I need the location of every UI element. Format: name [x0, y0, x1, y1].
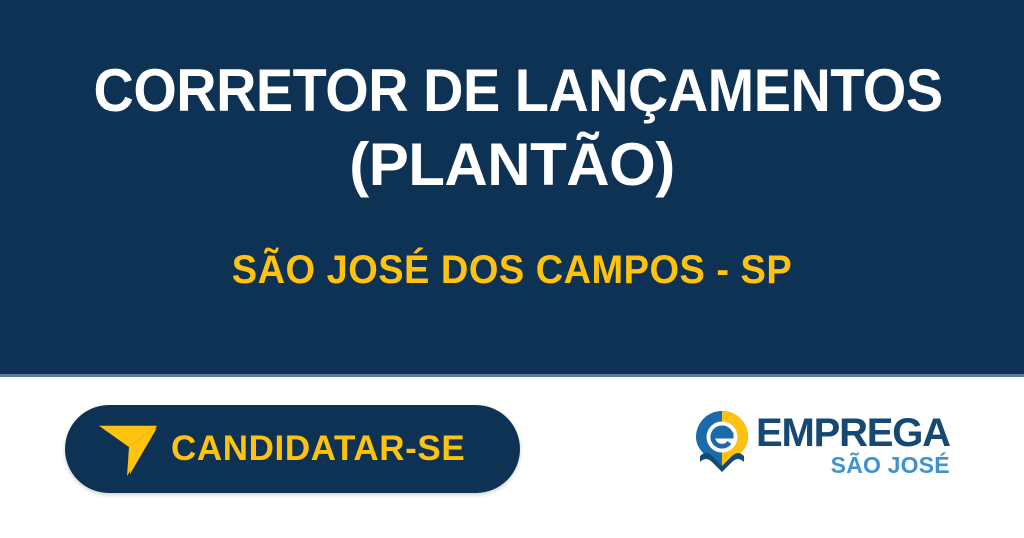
brand-name: EMPREGA [756, 414, 950, 452]
send-icon [97, 418, 159, 480]
job-title-line-2: (PLANTÃO) [62, 129, 962, 201]
brand-logo[interactable]: EMPREGA SÃO JOSÉ [694, 408, 936, 486]
action-bar: CANDIDATAR-SE EMPREGA SÃO JOSÉ [0, 377, 1024, 538]
apply-button[interactable]: CANDIDATAR-SE [65, 405, 520, 493]
brand-wordmark: EMPREGA SÃO JOSÉ [756, 408, 950, 478]
job-posting-card: CORRETOR DE LANÇAMENTOS (PLANTÃO) SÃO JO… [0, 0, 1024, 538]
job-title: CORRETOR DE LANÇAMENTOS (PLANTÃO) [62, 0, 962, 201]
job-banner: CORRETOR DE LANÇAMENTOS (PLANTÃO) SÃO JO… [0, 0, 1024, 374]
apply-button-label: CANDIDATAR-SE [171, 429, 465, 469]
job-title-line-1: CORRETOR DE LANÇAMENTOS [94, 55, 931, 127]
job-location: SÃO JOSÉ DOS CAMPOS - SP [85, 247, 940, 293]
brand-subtitle: SÃO JOSÉ [831, 453, 950, 478]
location-pin-icon [694, 410, 750, 478]
